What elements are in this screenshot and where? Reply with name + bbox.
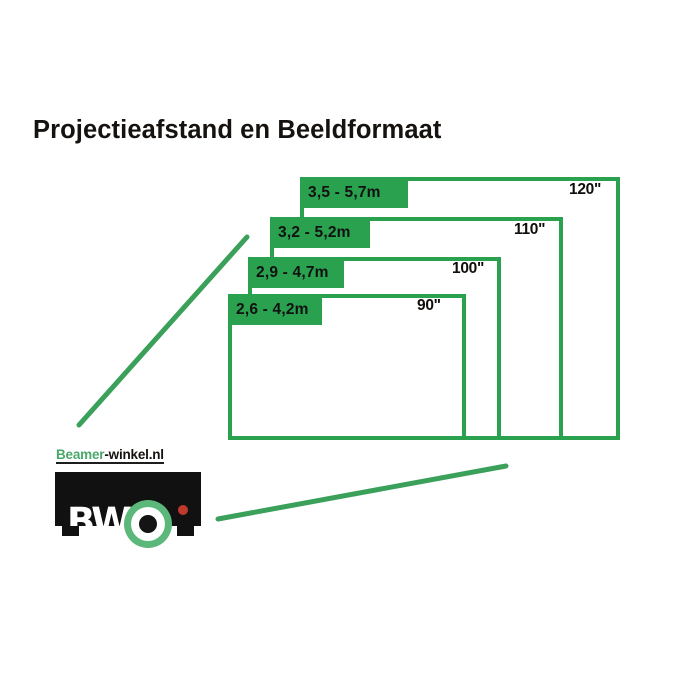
projector-foot-right-icon <box>177 526 194 536</box>
projector-foot-left-icon <box>62 526 79 536</box>
projector-lens-ring <box>131 507 165 541</box>
projector-lens-icon <box>124 500 172 548</box>
distance-chip-120: 3,5 - 5,7m <box>300 177 408 208</box>
screen-size-label-110: 110" <box>514 221 545 239</box>
screen-size-label-90: 90" <box>417 297 441 315</box>
projector-lens-core <box>139 515 157 533</box>
logo-wordmark-black: -winkel.nl <box>104 447 164 462</box>
beamer-winkel-logo[interactable]: Beamer-winkel.nl BW <box>53 447 208 539</box>
upper-throw-line <box>79 237 247 425</box>
distance-chip-100: 2,9 - 4,7m <box>248 257 344 288</box>
logo-wordmark-green: Beamer <box>56 447 104 462</box>
logo-wordmark: Beamer-winkel.nl <box>56 447 164 464</box>
projection-diagram <box>0 0 700 700</box>
projector-body-icon: BW <box>55 472 201 526</box>
distance-chip-90: 2,6 - 4,2m <box>228 294 322 325</box>
lower-throw-line <box>218 466 506 519</box>
distance-chip-110: 3,2 - 5,2m <box>270 217 370 248</box>
diagram-canvas: Projectieafstand en Beeldformaat 90"100"… <box>0 0 700 700</box>
projector-led-icon <box>178 505 188 515</box>
screen-size-label-120: 120" <box>569 181 601 199</box>
screen-size-label-100: 100" <box>452 260 484 278</box>
